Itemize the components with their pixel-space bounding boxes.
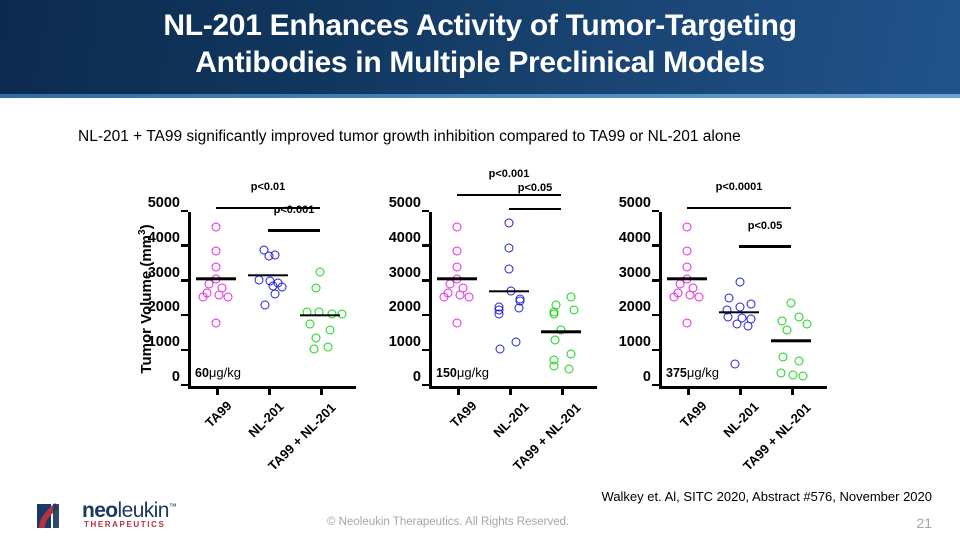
data-point <box>440 292 449 301</box>
slide-subtitle: NL-201 + TA99 significantly improved tum… <box>78 128 938 146</box>
significance-bar <box>739 245 791 247</box>
y-axis-tick-label: 4000 <box>389 230 421 246</box>
x-axis-line <box>659 386 827 389</box>
y-axis-tick <box>181 279 188 282</box>
data-point <box>495 309 504 318</box>
y-axis-tick <box>422 349 429 352</box>
significance-bar <box>509 208 561 210</box>
data-point <box>212 318 221 327</box>
data-point <box>505 243 514 252</box>
significance-label: p<0.001 <box>274 204 315 216</box>
data-point <box>747 300 756 309</box>
x-axis-tick <box>509 388 512 395</box>
data-point <box>686 290 695 299</box>
mean-line <box>196 277 236 280</box>
data-point <box>453 222 462 231</box>
data-point <box>512 337 521 346</box>
data-point <box>683 318 692 327</box>
data-point <box>725 294 734 303</box>
x-axis-tick <box>739 388 742 395</box>
data-point <box>265 252 274 261</box>
header-accent-rule <box>0 94 960 98</box>
data-point <box>326 325 335 334</box>
significance-label: p<0.001 <box>489 168 530 180</box>
y-axis-tick <box>652 314 659 317</box>
data-point <box>779 353 788 362</box>
y-axis-tick-label: 0 <box>172 369 180 385</box>
data-point <box>787 298 796 307</box>
data-point <box>736 302 745 311</box>
y-axis-tick <box>181 314 188 317</box>
x-axis-category-label: NL-201 <box>245 399 286 440</box>
data-point <box>312 283 321 292</box>
data-point <box>567 349 576 358</box>
mean-line <box>719 311 759 314</box>
chart-panel-150: TA99NL-201TA99 + NL-20101000200030004000… <box>375 160 600 460</box>
data-point <box>695 293 704 302</box>
dose-annotation: 375μg/kg <box>666 365 719 380</box>
y-axis-tick <box>422 314 429 317</box>
data-point <box>212 247 221 256</box>
page-title-line-2: Antibodies in Multiple Preclinical Model… <box>40 45 920 82</box>
data-point <box>261 301 270 310</box>
mean-line <box>541 331 581 334</box>
data-point <box>306 320 315 329</box>
x-axis-tick <box>561 388 564 395</box>
mean-line <box>489 290 529 293</box>
y-axis-tick <box>652 244 659 247</box>
y-axis-tick <box>181 349 188 352</box>
x-axis-category-label: NL-201 <box>720 399 761 440</box>
data-point <box>670 292 679 301</box>
y-axis-tick-label: 4000 <box>619 230 651 246</box>
significance-bar <box>687 207 791 209</box>
data-point <box>446 280 455 289</box>
y-axis-tick-label: 3000 <box>619 265 651 281</box>
significance-bar <box>268 229 320 231</box>
logo-trademark: ™ <box>169 502 176 511</box>
y-axis-tick-label: 2000 <box>389 299 421 315</box>
data-point <box>310 344 319 353</box>
x-axis-line <box>429 386 597 389</box>
y-axis-tick <box>652 210 659 213</box>
significance-label: p<0.0001 <box>716 181 763 193</box>
y-axis-tick <box>181 244 188 247</box>
x-axis-tick <box>320 388 323 395</box>
y-axis-tick-label: 0 <box>413 369 421 385</box>
logo-name-bold: neo <box>82 499 118 522</box>
y-axis-tick <box>422 384 429 387</box>
data-point <box>205 280 214 289</box>
data-point <box>724 313 733 322</box>
page-title-line-1: NL-201 Enhances Activity of Tumor-Target… <box>40 8 920 45</box>
y-axis-tick <box>422 279 429 282</box>
data-point <box>505 264 514 273</box>
data-point <box>271 289 280 298</box>
citation-text: Walkey et. Al, SITC 2020, Abstract #576,… <box>602 489 932 504</box>
x-axis-category-label: TA99 <box>677 398 709 430</box>
y-axis-tick-label: 3000 <box>389 265 421 281</box>
data-point <box>783 325 792 334</box>
data-point <box>316 268 325 277</box>
y-axis-tick-label: 1000 <box>389 334 421 350</box>
y-axis-tick <box>652 349 659 352</box>
y-axis-line <box>429 212 432 386</box>
x-axis-tick <box>457 388 460 395</box>
data-point <box>803 320 812 329</box>
y-axis-tick-label: 5000 <box>148 195 180 211</box>
data-point <box>312 334 321 343</box>
data-point <box>224 293 233 302</box>
data-point <box>215 290 224 299</box>
data-point <box>795 357 804 366</box>
y-axis-line <box>188 212 191 386</box>
y-axis-tick-label: 5000 <box>389 195 421 211</box>
logo-subtitle: THERAPEUTICS <box>84 520 165 529</box>
data-point <box>733 320 742 329</box>
y-axis-tick <box>181 384 188 387</box>
dose-annotation: 60μg/kg <box>195 365 241 380</box>
data-point <box>795 313 804 322</box>
y-axis-tick-label: 0 <box>643 369 651 385</box>
chart-panel-375: TA99NL-201TA99 + NL-20101000200030004000… <box>605 160 830 460</box>
mean-line <box>300 314 340 317</box>
page-number: 21 <box>916 515 932 531</box>
y-axis-tick <box>422 210 429 213</box>
data-point <box>453 318 462 327</box>
data-point <box>456 290 465 299</box>
mean-line <box>667 277 707 280</box>
data-point <box>570 306 579 315</box>
y-axis-title: Tumor Volume (mm3) <box>137 224 155 373</box>
data-point <box>496 344 505 353</box>
x-axis-line <box>188 386 356 389</box>
data-point <box>255 275 264 284</box>
data-point <box>744 322 753 331</box>
mean-line <box>771 340 811 343</box>
data-point <box>683 222 692 231</box>
y-axis-tick <box>652 279 659 282</box>
x-axis-tick <box>791 388 794 395</box>
data-point <box>799 371 808 380</box>
data-point <box>736 277 745 286</box>
plot-area: 010002000300040005000p<0.001p<0.05150μg/… <box>429 212 589 386</box>
data-point <box>550 309 559 318</box>
data-point <box>567 293 576 302</box>
data-point <box>505 219 514 228</box>
data-point <box>550 362 559 371</box>
slide-header-banner: NL-201 Enhances Activity of Tumor-Target… <box>0 0 960 94</box>
neoleukin-logo-icon <box>33 500 79 530</box>
data-point <box>212 222 221 231</box>
y-axis-line <box>659 212 662 386</box>
page-title: NL-201 Enhances Activity of Tumor-Target… <box>40 8 920 81</box>
copyright-text: © Neoleukin Therapeutics. All Rights Res… <box>327 516 569 528</box>
significance-label: p<0.05 <box>748 220 783 232</box>
x-axis-tick <box>268 388 271 395</box>
x-axis-category-label: TA99 <box>447 398 479 430</box>
y-axis-tick <box>181 210 188 213</box>
data-point <box>324 343 333 352</box>
data-point <box>683 262 692 271</box>
x-axis-tick <box>216 388 219 395</box>
plot-area: 010002000300040005000p<0.0001p<0.05375μg… <box>659 212 819 386</box>
chart-panel-60: TA99NL-201TA99 + NL-20101000200030004000… <box>130 160 370 460</box>
y-axis-tick <box>652 384 659 387</box>
logo-name-light: leukin <box>118 499 169 522</box>
mean-line <box>248 274 288 277</box>
significance-label: p<0.05 <box>518 182 553 194</box>
data-point <box>515 303 524 312</box>
x-axis-category-label: NL-201 <box>490 399 531 440</box>
data-point <box>778 316 787 325</box>
data-point <box>453 262 462 271</box>
data-point <box>453 247 462 256</box>
data-point <box>565 364 574 373</box>
data-point <box>676 280 685 289</box>
y-axis-tick-label: 5000 <box>619 195 651 211</box>
x-axis-tick <box>687 388 690 395</box>
data-point <box>551 336 560 345</box>
y-axis-tick-label: 1000 <box>619 334 651 350</box>
significance-label: p<0.01 <box>251 181 286 193</box>
data-point <box>278 282 287 291</box>
dose-annotation: 150μg/kg <box>436 365 489 380</box>
chart-panel-group: TA99NL-201TA99 + NL-20101000200030004000… <box>0 160 960 460</box>
data-point <box>199 292 208 301</box>
data-point <box>683 247 692 256</box>
data-point <box>789 370 798 379</box>
significance-bar <box>457 194 561 196</box>
mean-line <box>437 277 477 280</box>
y-axis-tick-label: 2000 <box>619 299 651 315</box>
x-axis-category-label: TA99 <box>202 398 234 430</box>
y-axis-tick <box>422 244 429 247</box>
data-point <box>777 369 786 378</box>
data-point <box>212 262 221 271</box>
data-point <box>731 360 740 369</box>
plot-area: 010002000300040005000Tumor Volume (mm3)p… <box>188 212 348 386</box>
data-point <box>465 293 474 302</box>
